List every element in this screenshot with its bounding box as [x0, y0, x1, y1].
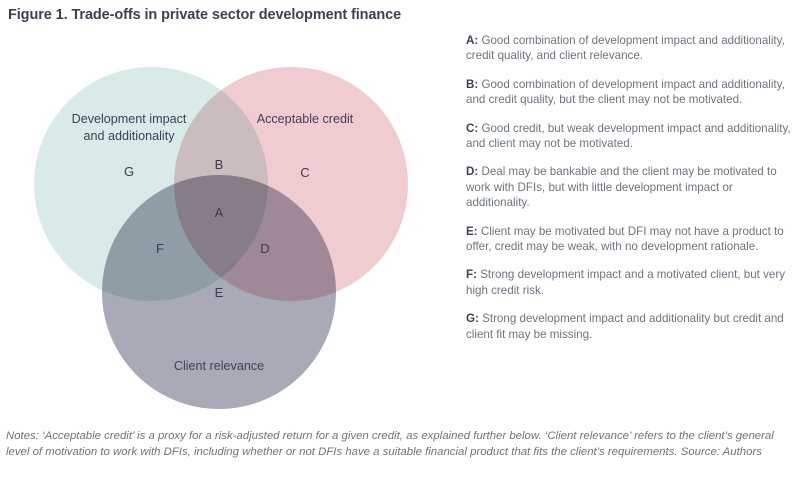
legend-item-b: B: Good combination of development impac… — [466, 77, 792, 108]
legend-text-c: Good credit, but weak development impact… — [466, 122, 791, 150]
legend-text-d: Deal may be bankable and the client may … — [466, 165, 777, 209]
venn-set-label-acceptable-credit: Acceptable credit — [257, 112, 354, 126]
legend-key-d: D: — [466, 165, 478, 178]
legend-key-c: C: — [466, 122, 478, 135]
venn-diagram: Development impact and additionality Acc… — [0, 34, 460, 420]
figure-container: Figure 1. Trade-offs in private sector d… — [0, 0, 800, 484]
legend-key-b: B: — [466, 78, 478, 91]
legend-list: A: Good combination of development impac… — [466, 33, 792, 342]
legend-key-e: E: — [466, 225, 478, 238]
venn-set-label-development-impact-line1: Development impact — [72, 112, 187, 126]
venn-region-label-g[interactable]: G — [124, 164, 134, 179]
venn-set-label-development-impact-line2: and additionality — [83, 129, 175, 143]
venn-region-label-f[interactable]: F — [156, 241, 164, 256]
venn-region-label-c[interactable]: C — [300, 165, 309, 180]
legend-item-c: C: Good credit, but weak development imp… — [466, 121, 792, 152]
venn-set-label-client-relevance: Client relevance — [174, 359, 264, 373]
legend-item-g: G: Strong development impact and additio… — [466, 311, 792, 342]
legend-item-d: D: Deal may be bankable and the client m… — [466, 164, 792, 210]
venn-svg: Development impact and additionality Acc… — [0, 34, 460, 420]
venn-region-label-e[interactable]: E — [215, 285, 224, 300]
venn-region-label-b[interactable]: B — [215, 157, 224, 172]
figure-notes: Notes: ‘Acceptable credit’ is a proxy fo… — [6, 428, 794, 461]
legend-item-e: E: Client may be motivated but DFI may n… — [466, 224, 792, 255]
legend-key-a: A: — [466, 34, 478, 47]
legend-item-a: A: Good combination of development impac… — [466, 33, 792, 64]
legend-text-e: Client may be motivated but DFI may not … — [466, 225, 784, 253]
legend-text-g: Strong development impact and additional… — [466, 312, 784, 340]
venn-region-label-d[interactable]: D — [260, 241, 269, 256]
legend-text-b: Good combination of development impact a… — [466, 78, 785, 106]
legend-text-f: Strong development impact and a motivate… — [466, 268, 785, 296]
legend-key-g: G: — [466, 312, 479, 325]
legend-key-f: F: — [466, 268, 477, 281]
legend-item-f: F: Strong development impact and a motiv… — [466, 267, 792, 298]
legend-text-a: Good combination of development impact a… — [466, 34, 785, 62]
figure-title: Figure 1. Trade-offs in private sector d… — [8, 6, 528, 25]
venn-region-label-a[interactable]: A — [215, 205, 224, 220]
